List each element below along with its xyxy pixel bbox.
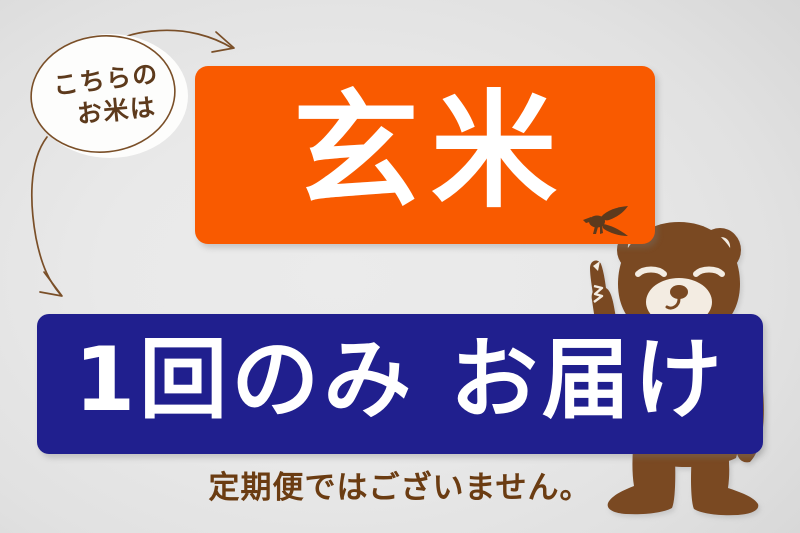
arrow-up-head xyxy=(212,32,234,52)
bird-icon xyxy=(579,204,631,240)
banner-rice-type[interactable]: 玄米 xyxy=(195,66,655,244)
banner-delivery-frequency-label: 1回のみ お届け xyxy=(74,336,726,424)
banner-rice-type-label: 玄米 xyxy=(281,89,569,215)
bubble-oval-shape xyxy=(20,26,196,166)
poster-canvas: こちらの お米は 玄米 xyxy=(0,0,800,533)
callout-bubble: こちらの お米は xyxy=(20,26,196,166)
bear-nose xyxy=(670,285,688,299)
arrow-down-head xyxy=(40,272,62,296)
banner-delivery-frequency[interactable]: 1回のみ お届け xyxy=(37,314,763,454)
